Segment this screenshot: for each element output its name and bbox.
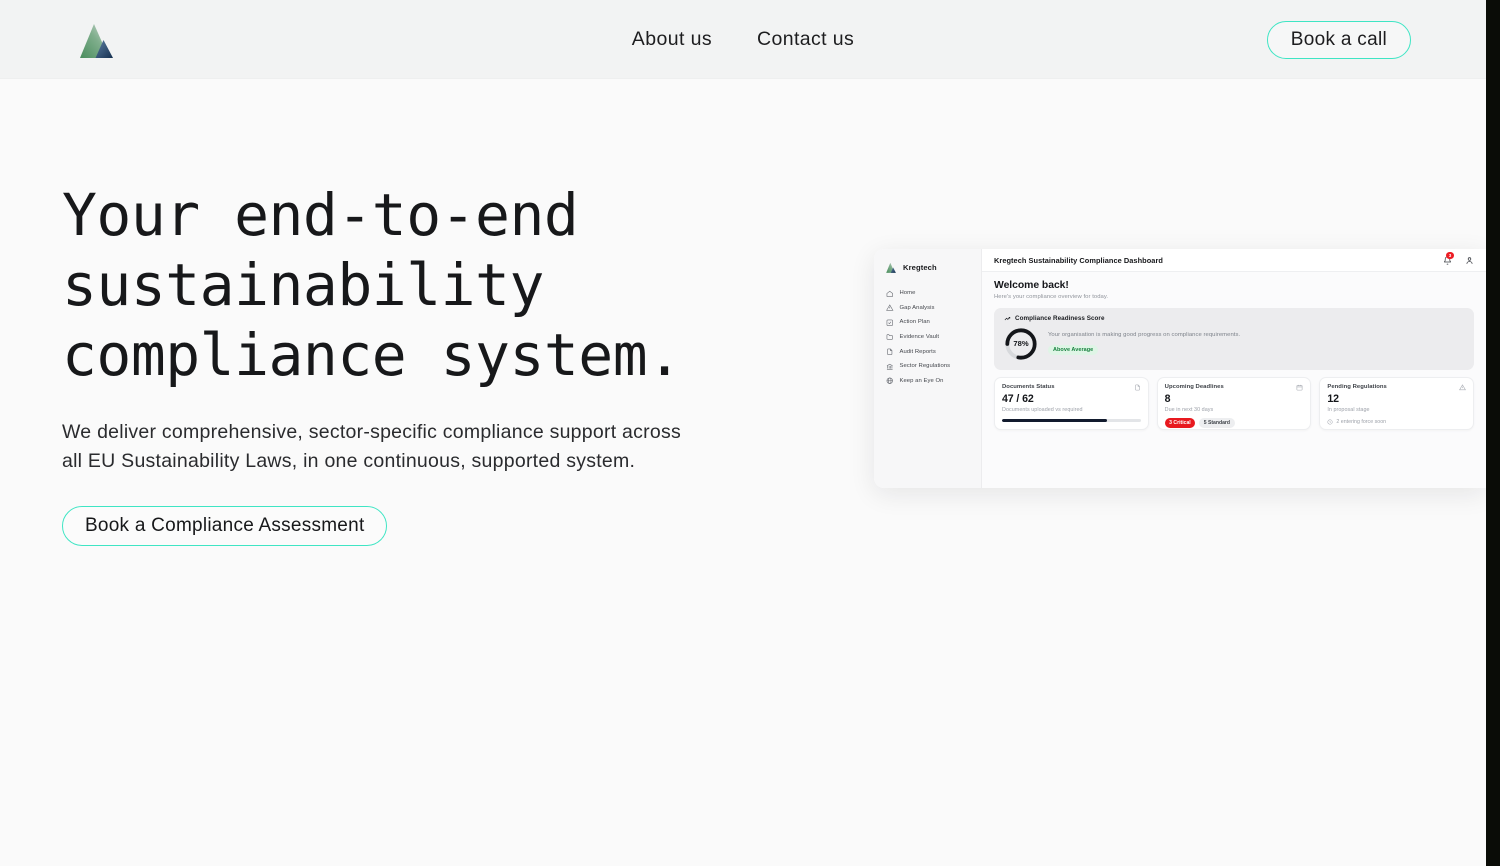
readiness-description: Your organisation is making good progres… xyxy=(1048,332,1240,338)
welcome-subtitle: Here's your compliance overview for toda… xyxy=(994,294,1474,300)
bell-icon[interactable]: 3 xyxy=(1443,256,1452,265)
sidebar-item-keep-an-eye-on[interactable]: Keep an Eye On xyxy=(883,374,972,389)
welcome-title: Welcome back! xyxy=(994,280,1474,291)
stat-card-header: Upcoming Deadlines xyxy=(1165,384,1304,391)
hero-section: Your end-to-end sustainability complianc… xyxy=(62,180,782,546)
deadline-badges: 3 Critical 5 Standard xyxy=(1165,418,1304,428)
book-a-call-button[interactable]: Book a call xyxy=(1267,21,1411,59)
sidebar-item-label: Sector Regulations xyxy=(900,363,951,369)
sidebar-item-label: Evidence Vault xyxy=(900,334,940,340)
page-viewport: About us Contact us Book a call Your end… xyxy=(0,0,1486,866)
stat-value: 47 / 62 xyxy=(1002,393,1141,405)
sidebar-item-label: Audit Reports xyxy=(900,349,936,355)
globe-icon xyxy=(886,377,894,385)
sidebar-item-label: Action Plan xyxy=(900,319,930,325)
stat-caption: Due in next 30 days xyxy=(1165,407,1304,413)
dashboard-body: Welcome back! Here's your compliance ove… xyxy=(982,272,1486,430)
sidebar-item-label: Home xyxy=(900,290,916,296)
warning-triangle-icon xyxy=(886,304,894,312)
clock-icon xyxy=(1327,419,1333,425)
stat-card-pending-regulations: Pending Regulations 12 In proposal stage… xyxy=(1319,377,1474,430)
stat-value: 8 xyxy=(1165,393,1304,405)
dashboard-brand: Kregtech xyxy=(883,261,972,274)
stat-title: Documents Status xyxy=(1002,384,1055,390)
nav-about-us[interactable]: About us xyxy=(632,28,712,51)
notification-badge: 3 xyxy=(1446,252,1454,259)
sidebar-item-audit-reports[interactable]: Audit Reports xyxy=(883,344,972,359)
stat-caption: Documents uploaded vs required xyxy=(1002,407,1141,413)
check-square-icon xyxy=(886,319,894,327)
hero-subtitle: We deliver comprehensive, sector-specifi… xyxy=(62,418,682,476)
user-icon[interactable] xyxy=(1465,256,1474,265)
readiness-card-header: Compliance Readiness Score xyxy=(1004,315,1464,322)
home-icon xyxy=(886,290,894,298)
site-header: About us Contact us Book a call xyxy=(0,0,1486,79)
dashboard-topbar-actions: 3 xyxy=(1443,256,1474,265)
compliance-readiness-card: Compliance Readiness Score 78% Your orga… xyxy=(994,308,1474,370)
stat-card-header: Pending Regulations xyxy=(1327,384,1466,391)
stat-card-header: Documents Status xyxy=(1002,384,1141,391)
readiness-percent-label: 78% xyxy=(1004,327,1038,361)
calendar-icon xyxy=(1296,384,1303,391)
sidebar-item-gap-analysis[interactable]: Gap Analysis xyxy=(883,301,972,316)
status-badge-standard: 5 Standard xyxy=(1199,418,1234,428)
trend-up-icon xyxy=(1004,315,1011,322)
folder-icon xyxy=(886,333,894,341)
readiness-text-column: Your organisation is making good progres… xyxy=(1048,331,1240,356)
documents-progress-fill xyxy=(1002,419,1107,422)
mountain-logo-icon xyxy=(885,261,898,274)
main-navigation: About us Contact us xyxy=(0,28,1486,51)
documents-progress-bar xyxy=(1002,419,1141,422)
welcome-block: Welcome back! Here's your compliance ove… xyxy=(994,280,1474,300)
page-title: Your end-to-end sustainability complianc… xyxy=(62,180,782,390)
stat-title: Upcoming Deadlines xyxy=(1165,384,1224,390)
document-icon xyxy=(1134,384,1141,391)
book-compliance-assessment-button[interactable]: Book a Compliance Assessment xyxy=(62,506,387,546)
stat-card-row: Documents Status 47 / 62 Documents uploa… xyxy=(994,377,1474,430)
stat-card-documents-status: Documents Status 47 / 62 Documents uploa… xyxy=(994,377,1149,430)
sidebar-item-label: Keep an Eye On xyxy=(900,378,944,384)
sidebar-item-label: Gap Analysis xyxy=(900,305,935,311)
bank-icon xyxy=(886,363,894,371)
warning-triangle-icon xyxy=(1459,384,1466,391)
nav-contact-us[interactable]: Contact us xyxy=(757,28,854,51)
readiness-heading: Compliance Readiness Score xyxy=(1015,315,1105,322)
dashboard-sidebar: Kregtech Home Gap Analysis Action Plan xyxy=(874,249,982,488)
sidebar-item-sector-regulations[interactable]: Sector Regulations xyxy=(883,359,972,374)
readiness-status-badge: Above Average xyxy=(1048,345,1098,355)
sidebar-item-evidence-vault[interactable]: Evidence Vault xyxy=(883,330,972,345)
dashboard-topbar: Kregtech Sustainability Compliance Dashb… xyxy=(982,249,1486,272)
pending-note-text: 2 entering force soon xyxy=(1336,419,1386,425)
stat-value: 12 xyxy=(1327,393,1466,405)
stat-caption: In proposal stage xyxy=(1327,407,1466,413)
readiness-card-body: 78% Your organisation is making good pro… xyxy=(1004,327,1464,361)
stat-card-upcoming-deadlines: Upcoming Deadlines 8 Due in next 30 days… xyxy=(1157,377,1312,430)
sidebar-item-action-plan[interactable]: Action Plan xyxy=(883,315,972,330)
dashboard-brand-label: Kregtech xyxy=(903,263,937,272)
document-icon xyxy=(886,348,894,356)
readiness-donut-chart: 78% xyxy=(1004,327,1038,361)
dashboard-preview-image: Kregtech Home Gap Analysis Action Plan xyxy=(874,249,1486,488)
sidebar-item-home[interactable]: Home xyxy=(883,286,972,301)
page-right-edge xyxy=(1486,0,1500,866)
pending-note: 2 entering force soon xyxy=(1327,419,1466,425)
dashboard-main: Kregtech Sustainability Compliance Dashb… xyxy=(982,249,1486,488)
status-badge-critical: 3 Critical xyxy=(1165,418,1196,428)
stat-title: Pending Regulations xyxy=(1327,384,1387,390)
dashboard-title: Kregtech Sustainability Compliance Dashb… xyxy=(994,256,1163,265)
